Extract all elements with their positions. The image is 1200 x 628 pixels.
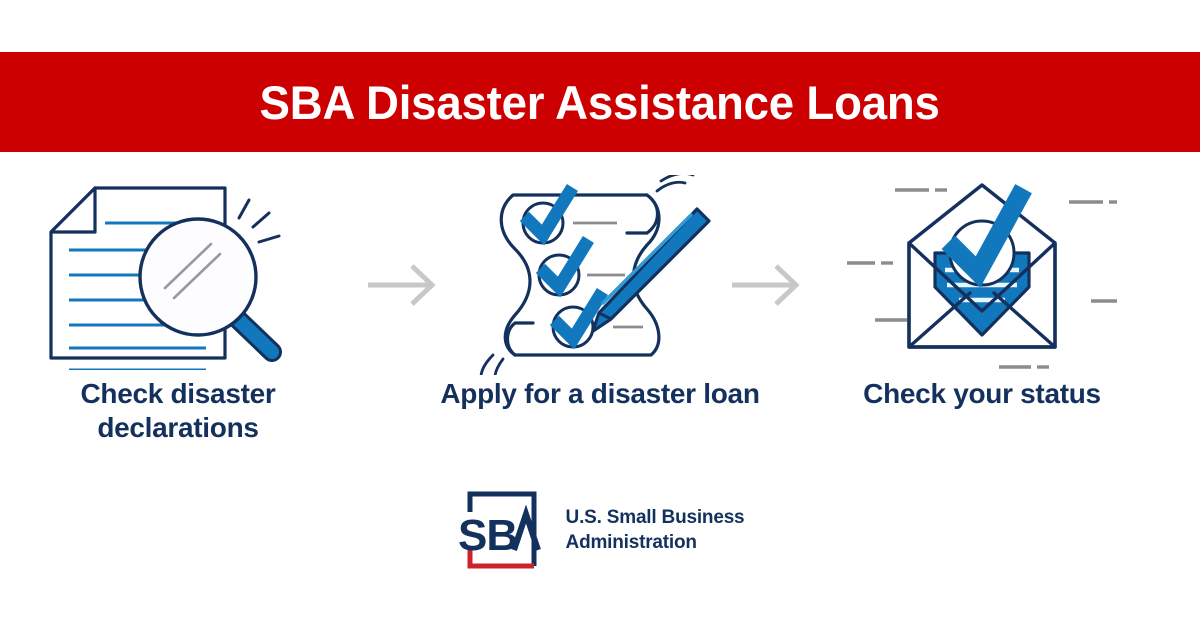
step-1-label: Check disaster declarations: [18, 377, 338, 445]
connector-arrow-1: [366, 258, 446, 312]
sba-logo-mark: SB: [456, 488, 548, 572]
step-apply-for-a-disaster-loan: Apply for a disaster loan: [440, 175, 760, 465]
step-check-your-status: Check your status: [822, 175, 1142, 465]
step-check-disaster-declarations: Check disaster declarations: [18, 175, 338, 465]
step-1-artwork: [18, 175, 338, 375]
document-magnifier-icon: [43, 180, 313, 370]
scroll-checklist-pencil-icon: [475, 175, 725, 375]
step-3-label: Check your status: [822, 377, 1142, 411]
envelope-check-icon: [847, 175, 1117, 375]
infographic-page: SBA Disaster Assistance Loans: [0, 0, 1200, 628]
step-2-label: Apply for a disaster loan: [440, 377, 760, 411]
sba-logo-letters: SB: [458, 511, 517, 560]
step-3-artwork: [822, 175, 1142, 375]
connector-arrow-2: [730, 258, 810, 312]
steps-row: Check disaster declarations: [0, 175, 1200, 465]
arrow-right-icon: [730, 258, 810, 312]
agency-name: U.S. Small Business Administration: [566, 505, 745, 555]
page-title: SBA Disaster Assistance Loans: [260, 79, 940, 126]
sba-logo: SB U.S. Small Business Administration: [0, 488, 1200, 572]
header-banner: SBA Disaster Assistance Loans: [0, 52, 1200, 152]
arrow-right-icon: [366, 258, 446, 312]
step-2-artwork: [440, 175, 760, 375]
